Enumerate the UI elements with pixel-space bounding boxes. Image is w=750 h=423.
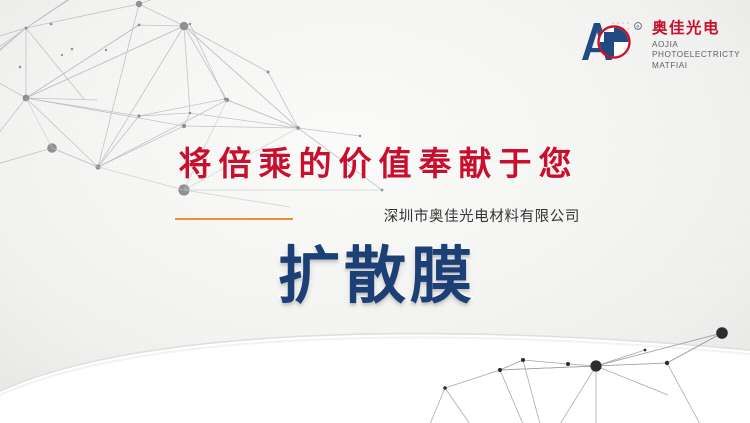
logo-mark-svg: R — [564, 14, 650, 70]
brand-wordmark: 奥佳光电 AOJIA PHOTOELECTRICTY MATFIAI — [652, 14, 740, 71]
brand-logo: R 奥佳光电 AOJIA PHOTOELECTRICTY MATFIAI — [564, 14, 750, 80]
registered-trademark-icon: R — [635, 23, 642, 31]
company-name: 深圳市奥佳光电材料有限公司 — [0, 209, 580, 226]
brand-name-en: AOJIA PHOTOELECTRICTY MATFIAI — [652, 40, 740, 72]
product-banner: R 奥佳光电 AOJIA PHOTOELECTRICTY MATFIAI 将倍乘… — [0, 0, 750, 423]
brand-name-en-line-1: AOJIA — [652, 40, 740, 51]
product-name: 扩散膜 — [0, 240, 750, 311]
brand-name-cn: 奥佳光电 — [652, 21, 740, 37]
headline-slogan: 将倍乘的价值奉献于您 — [0, 146, 750, 183]
logo-circle-mark — [599, 27, 630, 58]
svg-text:R: R — [636, 25, 640, 31]
aojia-logo-mark: R — [564, 14, 650, 70]
brand-name-en-line-2: PHOTOELECTRICTY — [652, 50, 740, 61]
brand-name-en-line-3: MATFIAI — [652, 61, 740, 72]
